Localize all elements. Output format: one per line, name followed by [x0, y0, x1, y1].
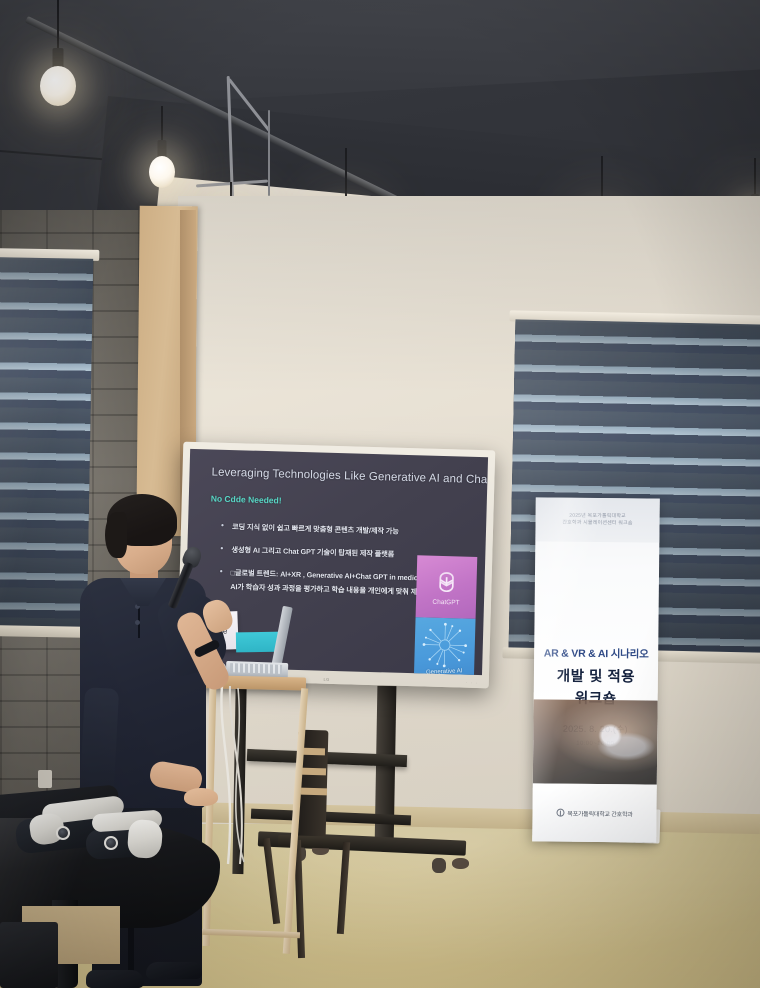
presenter-sideburn — [105, 512, 127, 558]
presenter-shoe-right — [146, 962, 202, 979]
banner-title-line-1: AR & VR & AI 시나리오 — [534, 645, 658, 661]
generative-ai-card-label: Generative AI — [426, 668, 463, 675]
chair-slat — [301, 788, 327, 796]
banner-footer-org: 목포가톨릭대학교 간호학과 — [567, 808, 632, 818]
display-brand-logo: LG — [323, 677, 329, 682]
event-banner: 2025년 목포가톨릭대학교 간호학과 시뮬레이션센터 워크숍 AR & VR … — [532, 497, 660, 842]
chatgpt-card-label: ChatGPT — [432, 599, 459, 607]
vr-headset-dial — [104, 836, 118, 850]
generative-ai-card: Generative AI — [414, 617, 476, 675]
banner-header-line-2: 간호학과 시뮬레이션센터 워크숍 — [562, 520, 632, 528]
tv-cart-foot-2 — [452, 858, 469, 869]
presenter-shirt-button — [135, 620, 140, 625]
banner-photo-strip — [533, 699, 658, 784]
presenter-hand-left — [184, 788, 218, 806]
wall-power-outlet — [38, 770, 52, 788]
photo-scene: Leveraging Technologies Like Generative … — [0, 0, 760, 988]
vr-headset-dial — [56, 826, 70, 840]
chatgpt-logo-icon — [432, 568, 461, 597]
banner-header: 2025년 목포가톨릭대학교 간호학과 시뮬레이션센터 워크숍 — [535, 497, 659, 542]
conduit-hanger — [268, 110, 270, 196]
banner-title-line-2: 개발 및 적용 — [534, 664, 658, 686]
tv-cart-caster-2 — [432, 858, 446, 873]
vr-headset-body — [127, 819, 164, 859]
speaker-box — [0, 922, 58, 988]
neural-burst-icon — [418, 619, 471, 672]
slide-bullet: 코딩 지식 없이 쉽고 빠르게 맞춤형 콘텐츠 개발/제작 가능 — [221, 522, 466, 539]
presenter-shoe-left — [86, 970, 144, 988]
vr-headset-2[interactable] — [86, 808, 196, 870]
pendant-light-1 — [38, 0, 78, 150]
banner-footer: 목포가톨릭대학교 간호학과 — [532, 783, 657, 842]
university-logo-icon — [556, 809, 564, 817]
chatgpt-card: ChatGPT — [416, 555, 478, 619]
pendant-light-2 — [146, 106, 178, 216]
ceiling-slab — [0, 0, 760, 112]
slide-title: Leveraging Technologies Like Generative … — [211, 466, 488, 487]
display-indicator: · · · — [466, 681, 479, 685]
